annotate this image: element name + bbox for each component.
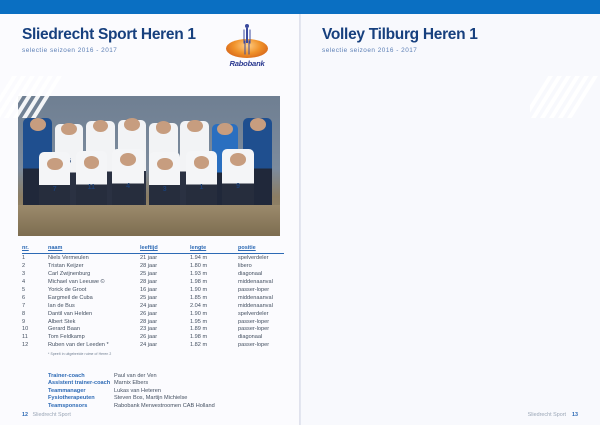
left-page-footer: 12 Sliedrecht Sport [22,412,71,418]
staff-role: Teammanager [22,386,114,394]
staff-role: Assistent trainer-coach [22,379,114,387]
table-cell-pos: libero [238,261,284,269]
page-title: Volley Tilburg Heren 1 [322,26,578,44]
right-page-footer: Sliedrecht Sport 13 [528,412,578,418]
table-cell-nr: 9 [22,317,48,325]
table-cell-leef: 26 jaar [140,309,190,317]
right-page-header: Volley Tilburg Heren 1 selectie seizoen … [322,26,578,54]
jersey-number: 1 [188,184,214,191]
staff-person: Rabobank Merwestroomen CAB Holland [114,401,284,409]
staff-row: TeammanagerLukas van Heteren [22,386,284,394]
table-cell-naam: Eargmeil de Cuba [48,293,140,301]
left-table-body: 1Niels Vermeulen21 jaar1.94 mspelverdele… [22,253,284,348]
table-cell-naam: Tristan Keijzer [48,261,140,269]
table-cell-leng: 1.93 m [190,269,238,277]
table-cell-leef: 16 jaar [140,285,190,293]
table-cell-naam: Gerard Baan [48,325,140,333]
table-cell-pos: spelverdeler [238,309,284,317]
table-row: 11Tom Feldkamp26 jaar1.98 mdiagonaal [22,332,284,340]
column-header-naam: naam [48,245,140,253]
table-cell-leng: 1.98 m [190,332,238,340]
table-cell-leef: 21 jaar [140,253,190,261]
table-cell-leef: 26 jaar [140,332,190,340]
table-cell-leng: 1.90 m [190,309,238,317]
table-cell-nr: 4 [22,277,48,285]
page-gutter [299,14,301,425]
table-cell-nr: 6 [22,293,48,301]
table-row: 7Ian de Bus24 jaar2.04 mmiddenaanval [22,301,284,309]
right-page: Volley Tilburg Heren 1 selectie seizoen … [300,14,600,425]
table-row: 1Niels Vermeulen21 jaar1.94 mspelverdele… [22,253,284,261]
table-row: 10Gerard Baan23 jaar1.89 mpasser-loper [22,325,284,333]
table-cell-leng: 1.82 m [190,340,238,348]
table-cell-naam: Michael van Leeuwe © [48,277,140,285]
table-cell-pos: middenaanval [238,293,284,301]
column-header-lengte: lengte [190,245,238,253]
diagonal-stripes-decoration [530,76,600,118]
table-cell-leng: 1.80 m [190,261,238,269]
table-cell-pos: diagonaal [238,332,284,340]
table-cell-nr: 7 [22,301,48,309]
table-cell-nr: 11 [22,332,48,340]
staff-row: FysiotherapeutenSteven Bos, Martijn Mich… [22,394,284,402]
jersey-number: 9 [225,183,251,190]
table-cell-leef: 25 jaar [140,293,190,301]
left-roster-table: nr. naam leeftijd lengte positie 1Niels … [22,245,284,356]
jersey-number: 7 [42,186,68,193]
page-subtitle: selectie seizoen 2016 - 2017 [322,47,578,54]
table-cell-naam: Carl Zwijnenburg [48,269,140,277]
table-cell-naam: Dantil van Helden [48,309,140,317]
table-header-row: nr. naam leeftijd lengte positie [22,245,284,253]
staff-role: Trainer-coach [22,371,114,379]
staff-row: TeamsponsorsRabobank Merwestroomen CAB H… [22,401,284,409]
table-row: 6Eargmeil de Cuba25 jaar1.85 mmiddenaanv… [22,293,284,301]
table-row: 12Ruben van der Leeden *24 jaar1.82 mpas… [22,340,284,348]
table-cell-pos: passer-loper [238,317,284,325]
magazine-spread: Sliedrecht Sport Heren 1 selectie seizoe… [0,0,600,425]
sponsor-name: Rabobank [216,59,278,68]
staff-role: Teamsponsors [22,401,114,409]
left-team-photo: 6 10 8 5 12 2 7 11 [18,96,280,236]
jersey-number: 4 [115,183,141,190]
page-number: 12 [22,412,28,418]
staff-role: Fysiotherapeuten [22,394,114,402]
table-cell-naam: Ruben van der Leeden * [48,340,140,348]
column-header-leeftijd: leeftijd [140,245,190,253]
table-cell-nr: 1 [22,253,48,261]
table-cell-leng: 1.90 m [190,285,238,293]
staff-person: Marnix Elbers [114,379,284,387]
table-cell-pos: spelverdeler [238,253,284,261]
table-cell-leng: 1.98 m [190,277,238,285]
staff-person: Paul van der Ven [114,371,284,379]
table-cell-nr: 10 [22,325,48,333]
table-cell-naam: Ian de Bus [48,301,140,309]
table-cell-naam: Tom Feldkamp [48,332,140,340]
team-photo-image: 6 10 8 5 12 2 7 11 [18,96,280,236]
player-table: nr. naam leeftijd lengte positie 1Niels … [22,245,284,348]
table-cell-pos: passer-loper [238,340,284,348]
table-cell-nr: 12 [22,340,48,348]
table-cell-pos: passer-loper [238,325,284,333]
table-row: 2Tristan Keijzer28 jaar1.80 mlibero [22,261,284,269]
staff-table: Trainer-coachPaul van der VenAssistent t… [22,371,284,409]
table-cell-leng: 1.89 m [190,325,238,333]
staff-row: Assistent trainer-coachMarnix Elbers [22,379,284,387]
table-cell-leng: 1.95 m [190,317,238,325]
table-cell-leng: 2.04 m [190,301,238,309]
table-cell-leef: 28 jaar [140,317,190,325]
column-header-positie: positie [238,245,284,253]
staff-person: Steven Bos, Martijn Michielse [114,394,284,402]
top-banner-bar [0,0,600,14]
table-cell-nr: 2 [22,261,48,269]
table-row: 8Dantil van Helden26 jaar1.90 mspelverde… [22,309,284,317]
jersey-number: 11 [78,184,104,191]
table-cell-leng: 1.94 m [190,253,238,261]
rabobank-logo-icon [226,24,268,58]
table-row: 3Carl Zwijnenburg25 jaar1.93 mdiagonaal [22,269,284,277]
table-cell-naam: Yorick de Groot [48,285,140,293]
column-header-nr: nr. [22,245,48,253]
table-cell-nr: 3 [22,269,48,277]
jersey-number: 3 [152,186,178,193]
table-row: 5Yorick de Groot16 jaar1.90 mpasser-lope… [22,285,284,293]
staff-person: Lukas van Heteren [114,386,284,394]
left-staff-block: Trainer-coachPaul van der VenAssistent t… [22,371,284,409]
table-cell-leef: 23 jaar [140,325,190,333]
page-number: 13 [572,412,578,418]
table-row: 9Albert Stek28 jaar1.95 mpasser-loper [22,317,284,325]
table-cell-leef: 24 jaar [140,340,190,348]
table-cell-leef: 25 jaar [140,269,190,277]
table-cell-pos: passer-loper [238,285,284,293]
table-cell-pos: diagonaal [238,269,284,277]
table-cell-pos: middenaanval [238,301,284,309]
table-footnote: * Speelt in uitgebreide ruime of Heren 2 [48,352,284,356]
left-staff-body: Trainer-coachPaul van der VenAssistent t… [22,371,284,409]
footer-publication-name: Sliedrecht Sport [33,412,71,418]
sponsor-block: Rabobank [216,24,278,68]
table-cell-naam: Albert Stek [48,317,140,325]
table-cell-naam: Niels Vermeulen [48,253,140,261]
staff-row: Trainer-coachPaul van der Ven [22,371,284,379]
table-row: 4Michael van Leeuwe ©28 jaar1.98 mmidden… [22,277,284,285]
left-page: Sliedrecht Sport Heren 1 selectie seizoe… [0,14,300,425]
table-cell-leef: 28 jaar [140,277,190,285]
table-cell-leef: 28 jaar [140,261,190,269]
table-cell-nr: 5 [22,285,48,293]
table-cell-leng: 1.85 m [190,293,238,301]
table-cell-nr: 8 [22,309,48,317]
table-cell-leef: 24 jaar [140,301,190,309]
footer-publication-name: Sliedrecht Sport [528,412,566,418]
table-cell-pos: middenaanval [238,277,284,285]
photo-floor [18,205,280,236]
